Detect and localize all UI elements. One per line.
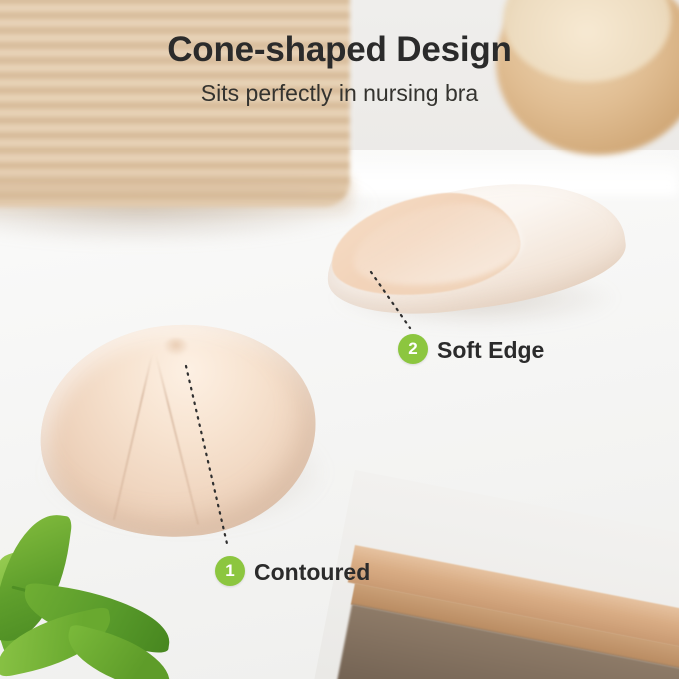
callout-badge-1: 1 — [215, 556, 245, 586]
callout-label-contoured: Contoured — [254, 559, 370, 586]
callout-badge-2: 2 — [398, 334, 428, 364]
callout-label-soft-edge: Soft Edge — [437, 337, 544, 364]
page-title: Cone-shaped Design — [0, 30, 679, 70]
product-infographic: Cone-shaped Design Sits perfectly in nur… — [0, 0, 679, 679]
page-subtitle: Sits perfectly in nursing bra — [0, 80, 679, 107]
